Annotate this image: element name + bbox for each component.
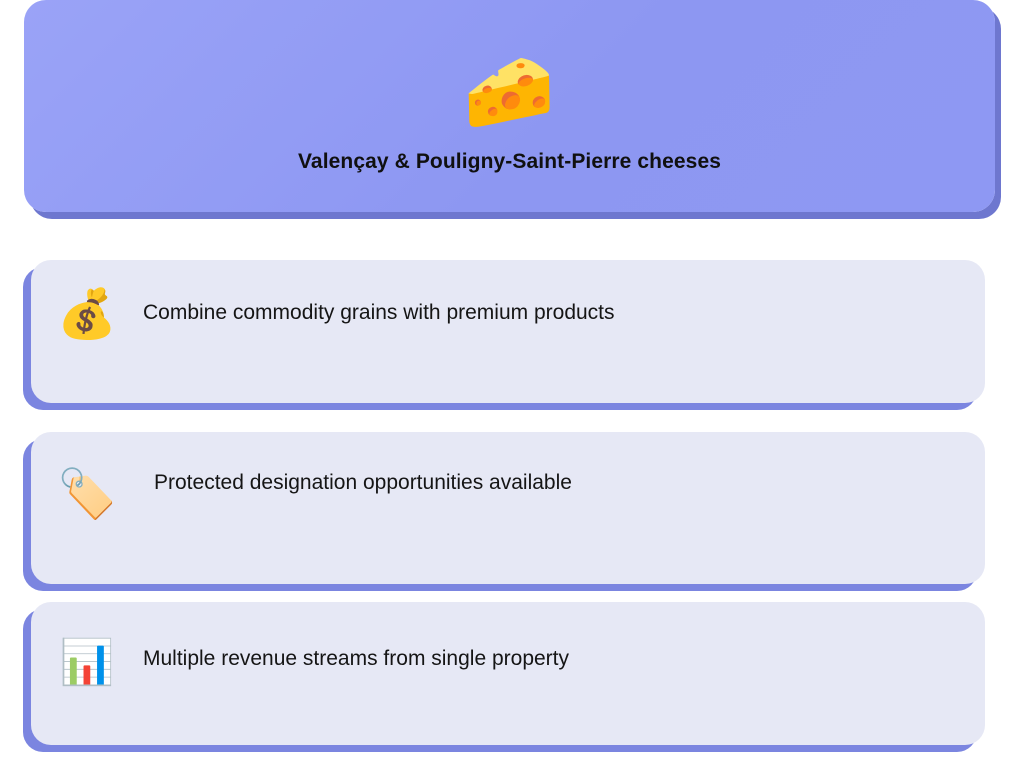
- label-tag-icon: 🏷️: [31, 457, 143, 519]
- feature-card-2-label: Protected designation opportunities avai…: [143, 457, 572, 496]
- page-title: Valençay & Pouligny-Saint-Pierre cheeses: [298, 150, 721, 174]
- feature-card-1-label: Combine commodity grains with premium pr…: [143, 285, 615, 326]
- feature-card-2[interactable]: 🏷️ Protected designation opportunities a…: [31, 432, 985, 584]
- cheese-wedge-icon: 🧀: [463, 44, 555, 140]
- feature-card-3-label: Multiple revenue streams from single pro…: [143, 627, 569, 672]
- slide-canvas: 🧀 Valençay & Pouligny-Saint-Pierre chees…: [0, 0, 1024, 766]
- money-bag-icon: 💰: [31, 285, 143, 339]
- feature-card-3[interactable]: 📊 Multiple revenue streams from single p…: [31, 602, 985, 745]
- header-banner: 🧀 Valençay & Pouligny-Saint-Pierre chees…: [24, 0, 995, 212]
- bar-chart-icon: 📊: [31, 627, 143, 685]
- feature-card-1[interactable]: 💰 Combine commodity grains with premium …: [31, 260, 985, 403]
